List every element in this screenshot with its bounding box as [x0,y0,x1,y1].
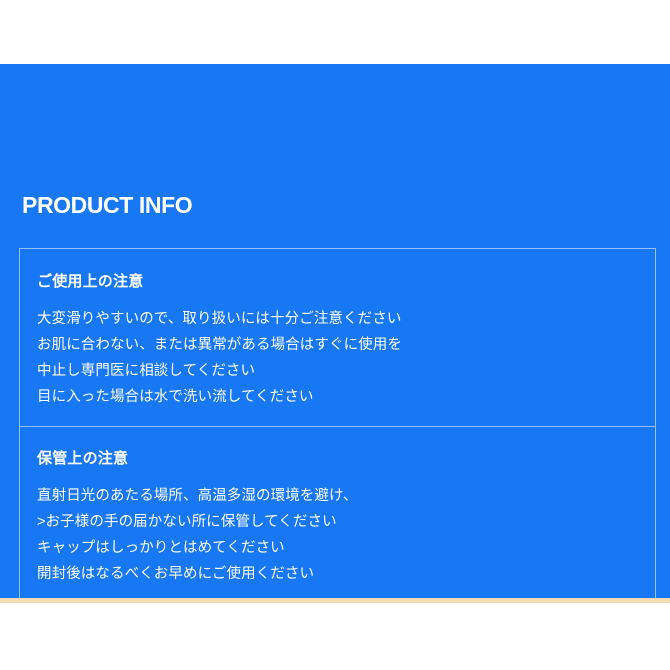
notes-box: ご使用上の注意 大変滑りやすいので、取り扱いには十分ご注意ください お肌に合わな… [19,248,656,599]
storage-notes-line: >お子様の手の届かない所に保管してください [37,509,655,535]
storage-notes-line: キャップはしっかりとはめてください [37,535,655,561]
page-title: PRODUCT INFO [22,191,192,219]
usage-notes-section: ご使用上の注意 大変滑りやすいので、取り扱いには十分ご注意ください お肌に合わな… [20,249,655,426]
storage-notes-line: 開封後はなるべくお早めにご使用ください [37,561,655,587]
storage-notes-section: 保管上の注意 直射日光のあたる場所、高温多湿の環境を避け、 >お子様の手の届かな… [20,426,655,599]
storage-notes-heading: 保管上の注意 [37,426,655,469]
product-info-page: PRODUCT INFO ご使用上の注意 大変滑りやすいので、取り扱いには十分ご… [0,0,670,670]
usage-notes-line: 中止し専門医に相談してください [37,358,655,384]
bottom-accent-strip [0,598,670,603]
usage-notes-line: 目に入った場合は水で洗い流してください [37,384,655,410]
storage-notes-line: 直射日光のあたる場所、高温多湿の環境を避け、 [37,483,655,509]
usage-notes-line: 大変滑りやすいので、取り扱いには十分ご注意ください [37,306,655,332]
storage-notes-body: 直射日光のあたる場所、高温多湿の環境を避け、 >お子様の手の届かない所に保管して… [37,469,655,587]
usage-notes-body: 大変滑りやすいので、取り扱いには十分ご注意ください お肌に合わない、または異常が… [37,292,655,410]
usage-notes-heading: ご使用上の注意 [37,249,655,292]
product-info-panel: PRODUCT INFO ご使用上の注意 大変滑りやすいので、取り扱いには十分ご… [0,64,670,598]
usage-notes-line: お肌に合わない、または異常がある場合はすぐに使用を [37,332,655,358]
